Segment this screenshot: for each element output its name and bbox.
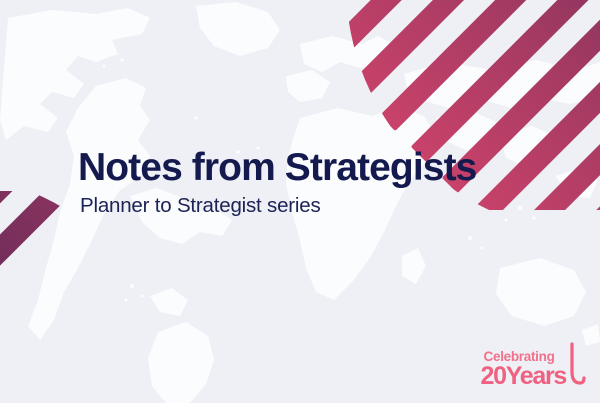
logo-swoosh-icon [569,342,586,388]
headline-block: Notes from Strategists Planner to Strate… [78,148,476,217]
logo-text-stack: Celebrating 20Years [481,350,566,390]
logo-years-label: 20Years [481,364,566,389]
logo-celebrating-label: Celebrating [484,350,555,364]
page-subtitle: Planner to Strategist series [80,195,476,218]
banner-canvas: Notes from Strategists Planner to Strate… [0,0,600,403]
celebrating-20-years-logo: Celebrating 20Years [481,342,586,389]
page-title: Notes from Strategists [78,148,476,189]
decorative-stripe-fan-bottom-left [0,191,292,403]
